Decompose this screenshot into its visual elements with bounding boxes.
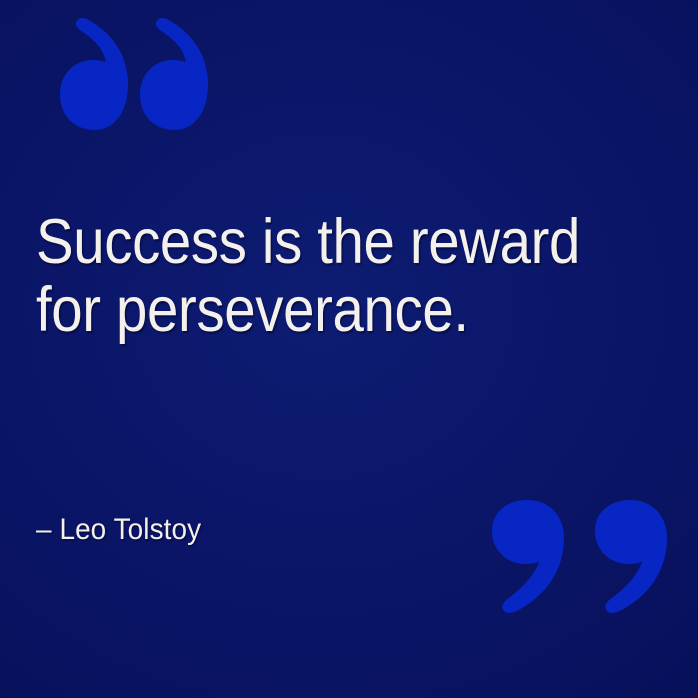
quote-attribution: – Leo Tolstoy [36,512,201,548]
quote-body: Success is the reward for perseverance. [36,208,656,344]
close-quote-icon [492,500,667,628]
quote-text: Success is the reward for perseverance. [36,208,591,344]
open-quote-icon [36,18,208,130]
quote-card: Success is the reward for perseverance. … [0,0,698,698]
